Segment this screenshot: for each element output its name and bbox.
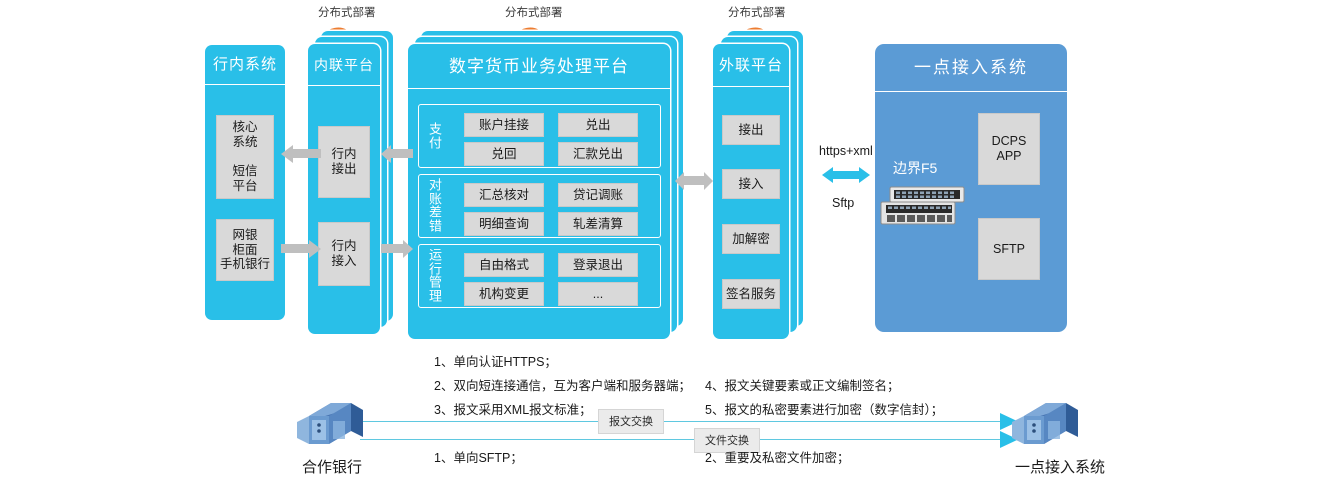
- message-note-5: 5、报文的私密要素进行加密（数字信封）；: [705, 399, 943, 418]
- access-system-bottom-label: 一点接入系统: [1000, 456, 1120, 477]
- chip-summary-check[interactable]: 汇总核对: [464, 183, 544, 207]
- arrow-core-to-intranet: [281, 145, 321, 163]
- chip-encrypt-decrypt[interactable]: 加解密: [722, 224, 780, 254]
- distributed-deploy-label-intranet: 分布式部署: [318, 4, 376, 20]
- chip-core-sms[interactable]: 核心 系统 短信 平台: [216, 115, 274, 199]
- chip-remittance-out[interactable]: 汇款兑出: [558, 142, 638, 166]
- column-title-external-platform: 外联平台: [713, 44, 789, 87]
- chip-external-outbound[interactable]: 接出: [722, 115, 780, 145]
- chip-exchange-out[interactable]: 兑出: [558, 113, 638, 137]
- access-system-title: 一点接入系统: [875, 44, 1067, 92]
- chip-signature-service[interactable]: 签名服务: [722, 279, 780, 309]
- group-label-reconciliation: 对账差错: [427, 179, 444, 234]
- chip-login-logout[interactable]: 登录退出: [558, 253, 638, 277]
- message-exchange-label: 报文交换: [598, 409, 664, 434]
- group-label-operations: 运行管理: [427, 249, 444, 304]
- distributed-deploy-label-external: 分布式部署: [728, 4, 786, 20]
- arrow-intranet-in-to-dcep: [381, 240, 413, 258]
- partner-bank-server-icon: [295, 398, 365, 450]
- chip-more[interactable]: ...: [558, 282, 638, 306]
- file-exchange-line: [360, 439, 1020, 440]
- chip-netting-settlement[interactable]: 轧差清算: [558, 212, 638, 236]
- link-label-sftp: Sftp: [832, 196, 854, 210]
- chip-intranet-inbound[interactable]: 行内 接入: [318, 222, 370, 286]
- message-note-3: 3、报文采用XML报文标准；: [434, 399, 592, 418]
- file-note-2: 2、重要及私密文件加密；: [705, 447, 849, 466]
- arrow-ebank-to-intranet: [281, 240, 321, 258]
- diagram-canvas: 分布式部署 分布式部署 分布式部署 行内系统 核心 系统 短信 平台 网银 柜面…: [0, 0, 1333, 483]
- column-title-bank-internal-system: 行内系统: [205, 45, 285, 85]
- chip-access-sftp[interactable]: SFTP: [978, 218, 1040, 280]
- group-label-payment: 支付: [427, 122, 444, 149]
- access-system-server-icon: [1010, 398, 1080, 450]
- message-note-4: 4、报文关键要素或正文编制签名；: [705, 375, 899, 394]
- chip-credit-adjust[interactable]: 贷记调账: [558, 183, 638, 207]
- chip-detail-query[interactable]: 明细查询: [464, 212, 544, 236]
- column-title-intranet-platform: 内联平台: [308, 44, 380, 86]
- f5-boundary-label: 边界F5: [893, 158, 937, 178]
- arrow-dcep-to-intranet-out: [381, 145, 413, 163]
- chip-free-format[interactable]: 自由格式: [464, 253, 544, 277]
- arrow-dcep-external-bidirectional: [675, 172, 713, 190]
- chip-org-change[interactable]: 机构变更: [464, 282, 544, 306]
- link-label-https-xml: https+xml: [819, 144, 873, 158]
- arrow-external-access-bidirectional: [822, 166, 870, 184]
- column-title-dcep-platform: 数字货币业务处理平台: [408, 44, 670, 89]
- chip-exchange-back[interactable]: 兑回: [464, 142, 544, 166]
- chip-intranet-outbound[interactable]: 行内 接出: [318, 126, 370, 198]
- file-note-1: 1、单向SFTP；: [434, 447, 523, 466]
- message-exchange-line: [360, 421, 1020, 422]
- chip-dcps-app[interactable]: DCPS APP: [978, 113, 1040, 185]
- chip-ebank-counter-mobile[interactable]: 网银 柜面 手机银行: [216, 219, 274, 281]
- message-note-2: 2、双向短连接通信，互为客户端和服务器端；: [434, 375, 691, 394]
- partner-bank-label: 合作银行: [292, 456, 372, 477]
- chip-external-inbound[interactable]: 接入: [722, 169, 780, 199]
- message-note-1: 1、单向认证HTTPS；: [434, 351, 557, 370]
- chip-account-link[interactable]: 账户挂接: [464, 113, 544, 137]
- distributed-deploy-label-dcep: 分布式部署: [505, 4, 563, 20]
- f5-switch-icon: [880, 186, 966, 226]
